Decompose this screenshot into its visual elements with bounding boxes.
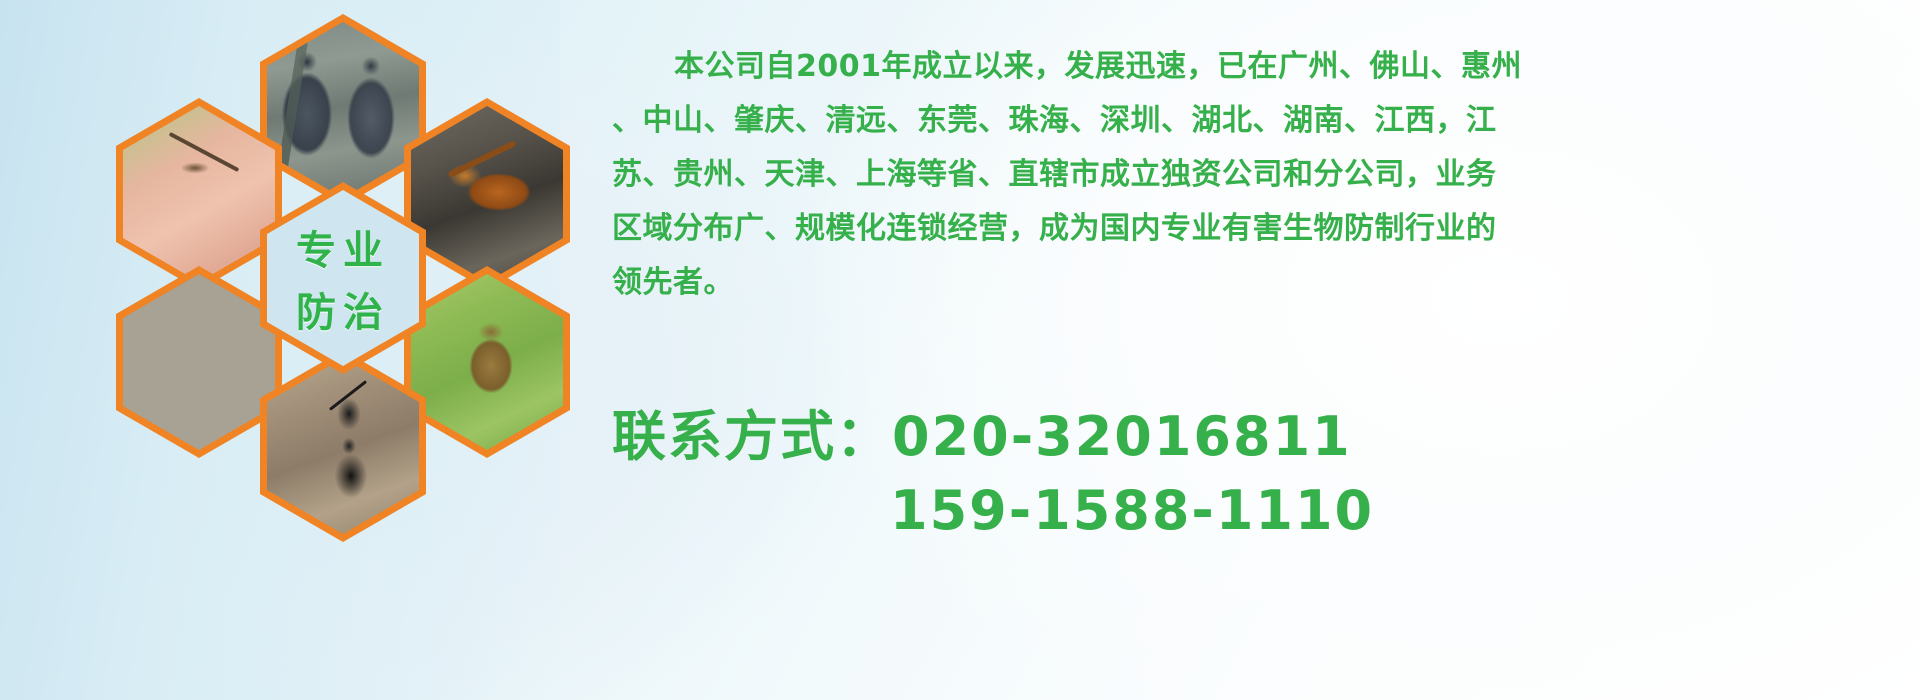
hex-photo-rats[interactable] — [260, 14, 426, 206]
hex-photo-flies-frame — [123, 274, 275, 450]
hexagon-photo-cluster: 专业 防治 — [84, 8, 604, 568]
description-line-1: 本公司自2001年成立以来，发展迅速，已在广州、佛山、惠州 — [612, 40, 1912, 94]
hex-badge-label: 专业 防治 — [267, 190, 419, 366]
description-line-5: 领先者。 — [612, 256, 1912, 310]
hex-badge-professional-control: 专业 防治 — [260, 182, 426, 374]
description-line-3: 苏、贵州、天津、上海等省、直辖市成立独资公司和分公司，业务 — [612, 148, 1912, 202]
hex-badge-line-2: 防治 — [296, 280, 390, 338]
stink-bug-image — [411, 274, 563, 450]
hex-photo-mosquito[interactable] — [116, 98, 282, 290]
contact-phone-mobile[interactable]: 159-1588-1110 — [612, 474, 1912, 548]
flies-image — [123, 274, 275, 450]
contact-block: 联系方式：020-32016811 159-1588-1110 — [612, 400, 1912, 548]
rats-image — [267, 22, 419, 198]
hex-badge-frame: 专业 防治 — [267, 190, 419, 366]
hex-photo-flies[interactable] — [116, 266, 282, 458]
hex-photo-rats-frame — [267, 22, 419, 198]
ant-image — [267, 358, 419, 534]
company-description: 本公司自2001年成立以来，发展迅速，已在广州、佛山、惠州 、中山、肇庆、清远、… — [612, 40, 1912, 310]
hex-badge-line-1: 专业 — [296, 218, 390, 276]
hex-photo-ant-frame — [267, 358, 419, 534]
mosquito-image — [123, 106, 275, 282]
hex-photo-cockroach[interactable] — [404, 98, 570, 290]
cockroach-image — [411, 106, 563, 282]
contact-phone-landline[interactable]: 联系方式：020-32016811 — [612, 400, 1912, 474]
hex-photo-cockroach-frame — [411, 106, 563, 282]
hex-photo-stink-bug[interactable] — [404, 266, 570, 458]
hex-photo-ant[interactable] — [260, 350, 426, 542]
pest-control-banner: 专业 防治 本公司自2001年成立以来，发展迅速，已在广州、佛山、惠州 、中山、… — [0, 0, 1920, 700]
hex-photo-stink-bug-frame — [411, 274, 563, 450]
hex-photo-mosquito-frame — [123, 106, 275, 282]
description-line-2: 、中山、肇庆、清远、东莞、珠海、深圳、湖北、湖南、江西，江 — [612, 94, 1912, 148]
description-line-4: 区域分布广、规模化连锁经营，成为国内专业有害生物防制行业的 — [612, 202, 1912, 256]
